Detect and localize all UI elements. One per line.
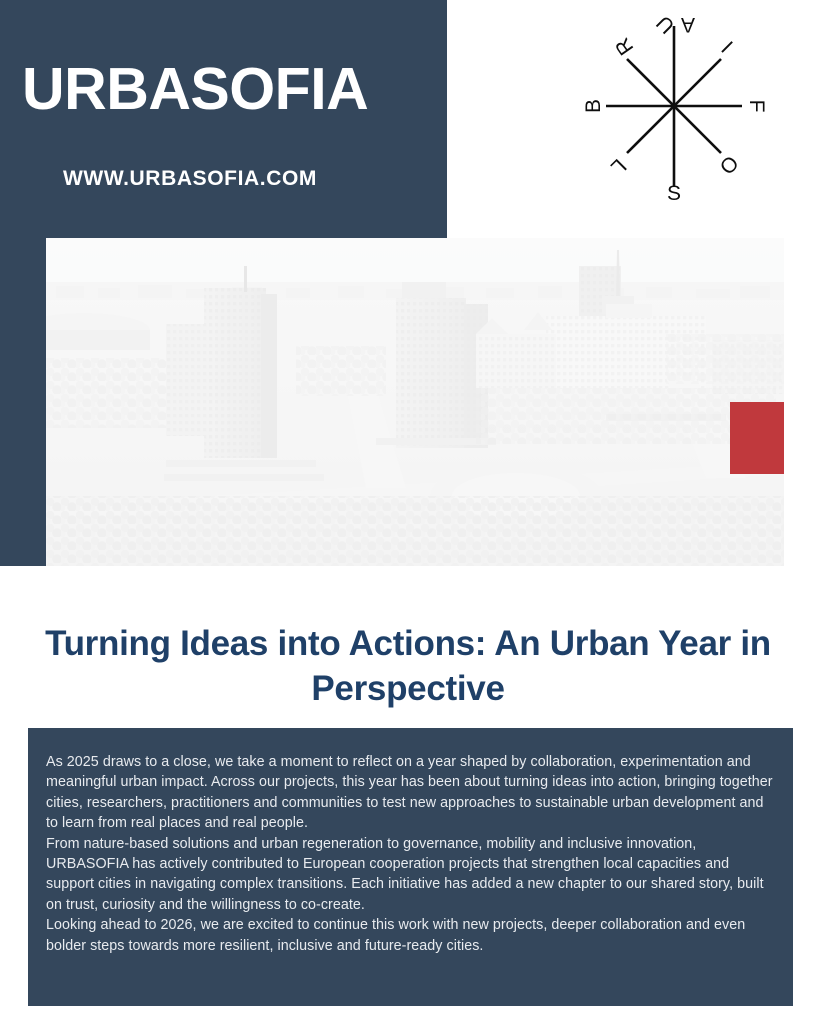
brand-website-url: WWW.URBASOFIA.COM (63, 166, 317, 192)
aerial-cityscape-photo (46, 238, 784, 566)
red-accent-square (730, 402, 784, 474)
compass-letter-o: O (716, 152, 744, 180)
compass-letter-l: L (606, 154, 631, 179)
page-title: Turning Ideas into Actions: An Urban Yea… (34, 621, 782, 711)
brand-title: URBASOFIA (22, 58, 368, 120)
compass-star-icon: U A R B I F S O L (570, 4, 780, 209)
compass-star-svg: U A R B I F S O L (570, 4, 780, 209)
compass-letter-f: F (745, 100, 768, 113)
compass-letter-a: A (681, 13, 695, 36)
body-paragraph-1: As 2025 draws to a close, we take a mome… (46, 752, 775, 834)
compass-letter-b: B (582, 99, 605, 113)
body-text-panel: As 2025 draws to a close, we take a mome… (28, 728, 793, 1006)
compass-letter-i: I (717, 36, 737, 56)
compass-letter-s: S (667, 182, 681, 205)
cityscape-illustration (46, 238, 784, 566)
compass-letter-r: R (611, 33, 639, 59)
body-paragraph-3: Looking ahead to 2026, we are excited to… (46, 915, 775, 956)
body-paragraph-2: From nature-based solutions and urban re… (46, 834, 775, 916)
